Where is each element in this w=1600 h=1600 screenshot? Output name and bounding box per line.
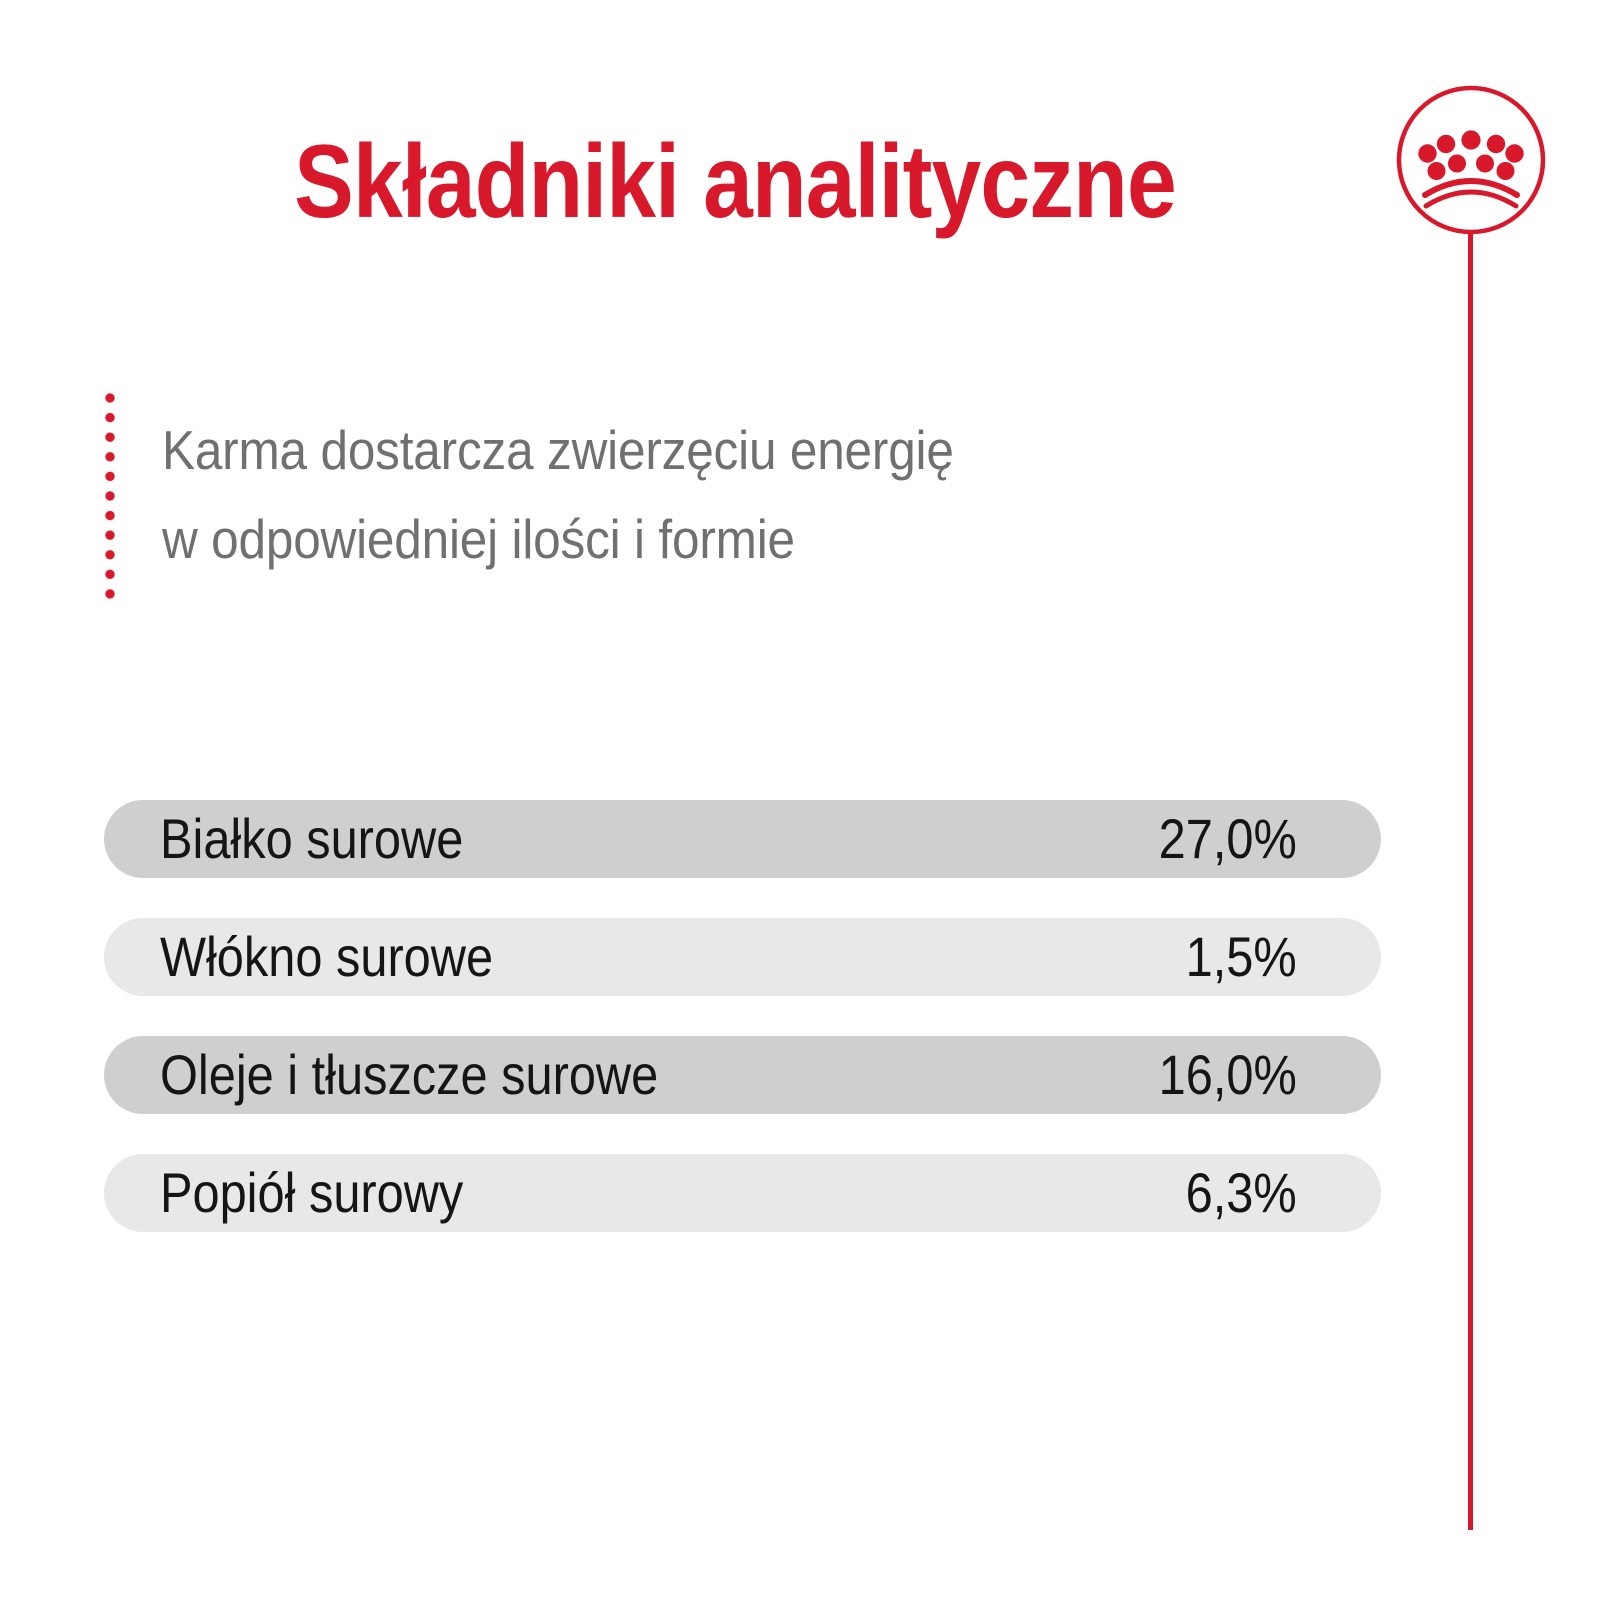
row-label: Oleje i tłuszcze surowe [160,1047,658,1103]
row-value: 6,3% [1186,1165,1297,1221]
row-value: 16,0% [1159,1047,1297,1103]
brand-stem-line [1468,232,1473,1530]
row-value: 27,0% [1159,811,1297,867]
subtitle-text: Karma dostarcza zwierzęciu energię w odp… [162,406,954,584]
page-title: Składniki analityczne [103,128,1367,237]
row-label: Popiół surowy [160,1165,463,1221]
royal-canin-crown-icon [1395,84,1547,236]
table-row: Oleje i tłuszcze surowe 16,0% [104,1036,1381,1114]
row-label: Białko surowe [160,811,463,867]
subtitle-block: Karma dostarcza zwierzęciu energię w odp… [104,392,1204,612]
table-row: Włókno surowe 1,5% [104,918,1381,996]
table-row: Popiół surowy 6,3% [104,1154,1381,1232]
table-row: Białko surowe 27,0% [104,800,1381,878]
row-value: 1,5% [1186,929,1297,985]
row-label: Włókno surowe [160,929,493,985]
analytical-constituents-table: Białko surowe 27,0% Włókno surowe 1,5% O… [104,800,1381,1232]
dotted-rail-icon [104,392,116,608]
